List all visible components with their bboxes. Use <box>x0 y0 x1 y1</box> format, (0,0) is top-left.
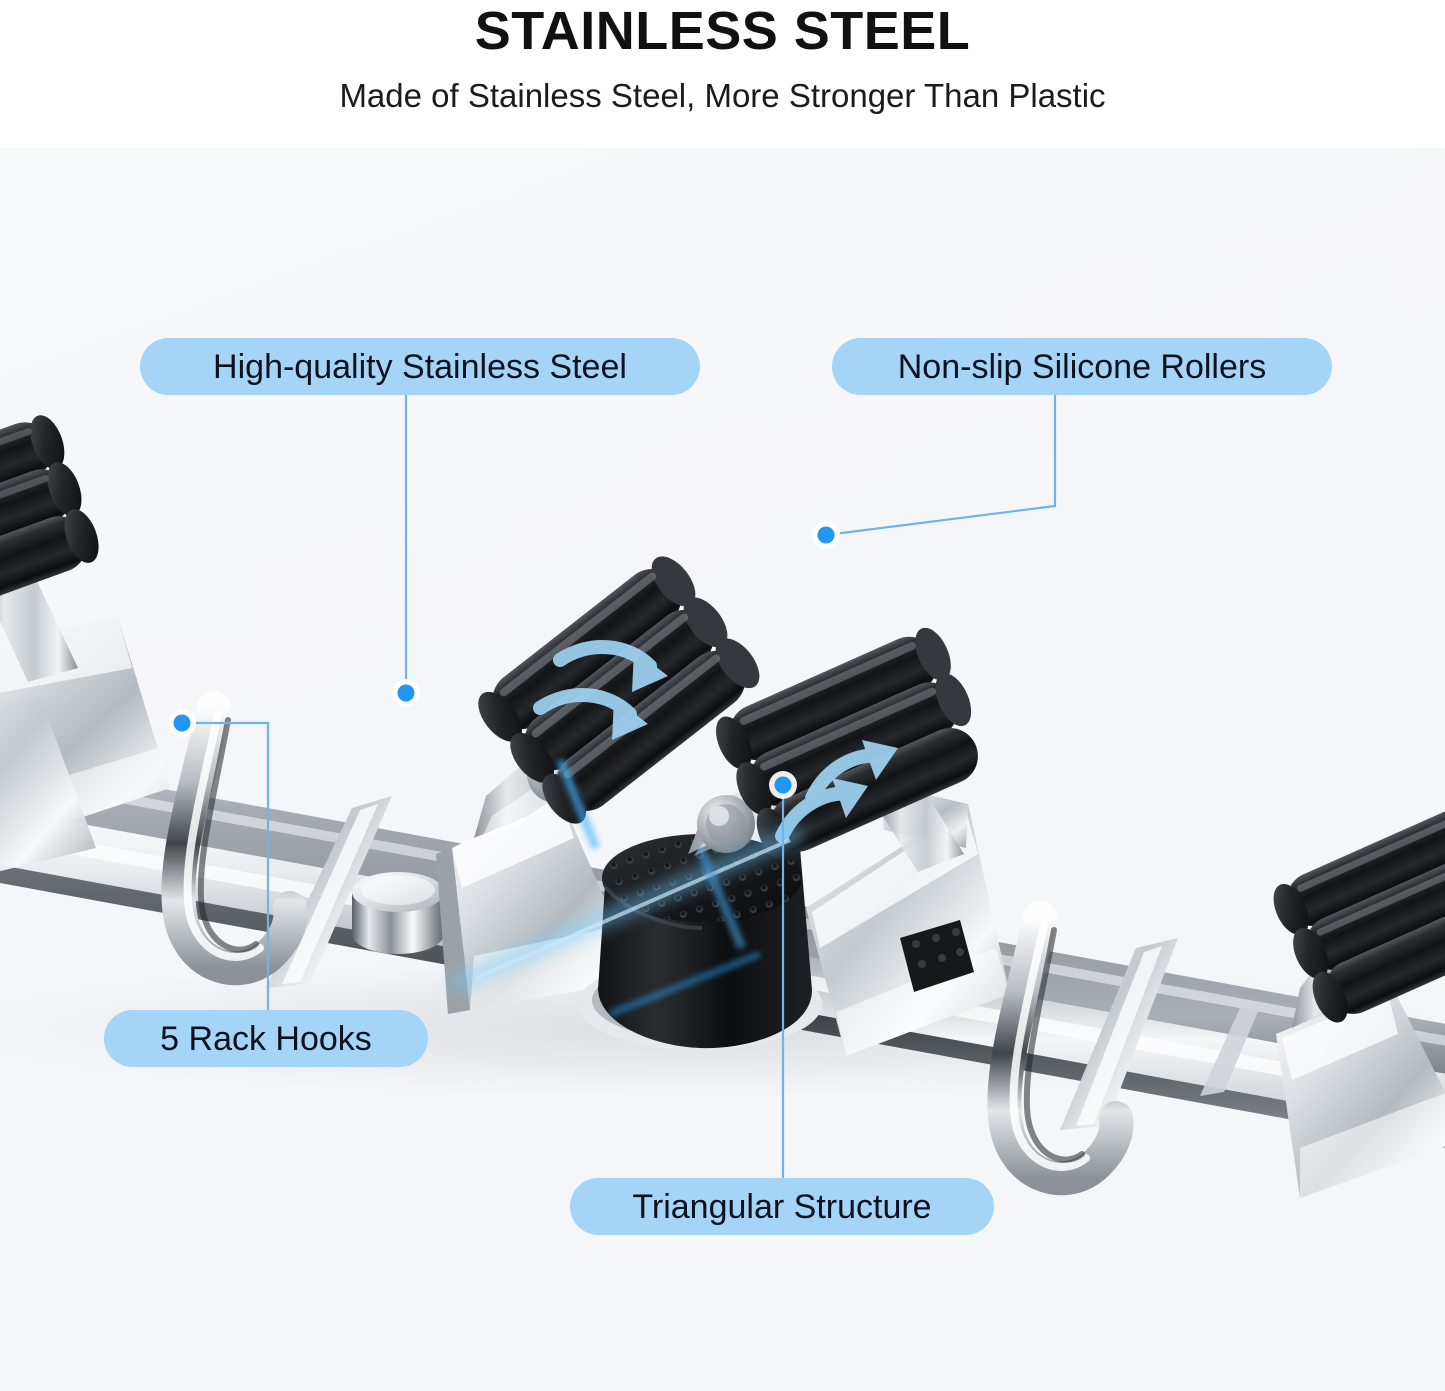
page-subtitle: Made of Stainless Steel, More Stronger T… <box>0 76 1445 116</box>
callout-label-five-rack-hooks: 5 Rack Hooks <box>104 1010 428 1067</box>
textured-rubber-pad <box>578 834 822 1050</box>
callout-label-non-slip-silicone-rollers: Non-slip Silicone Rollers <box>832 338 1332 395</box>
callout-label-high-quality-stainless-steel: High-quality Stainless Steel <box>140 338 700 395</box>
chrome-screw-cap <box>352 872 444 954</box>
product-rail <box>0 600 1445 760</box>
header: STAINLESS STEEL Made of Stainless Steel,… <box>0 0 1445 148</box>
callout-label-triangular-structure: Triangular Structure <box>570 1178 994 1235</box>
infographic-root: STAINLESS STEEL Made of Stainless Steel,… <box>0 0 1445 1391</box>
page-title: STAINLESS STEEL <box>0 2 1445 60</box>
